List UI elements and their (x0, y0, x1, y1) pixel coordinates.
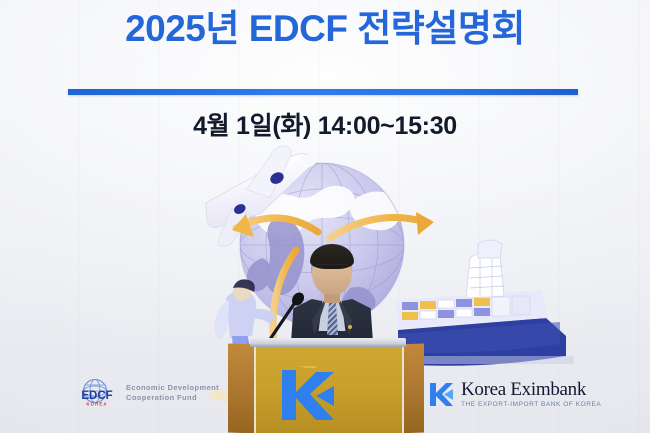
edcf-fullname-line1: Economic Development (126, 383, 219, 393)
eximbank-name: Korea Eximbank (461, 380, 601, 400)
title-divider-bar (68, 89, 578, 95)
edcf-globe-icon: EDCF KOREA (74, 378, 120, 408)
edcf-mark-text: EDCF (81, 390, 112, 402)
speaker-glasses (315, 264, 349, 274)
edcf-fullname: Economic Development Cooperation Fund (126, 383, 219, 403)
eximbank-k-mark-icon (428, 381, 454, 408)
edcf-logo: EDCF KOREA Economic Development Cooperat… (74, 378, 219, 408)
screenshot-root: 2025년 EDCF 전략설명회 4월 1일(화) 14:00~15:30 (0, 0, 650, 433)
eximbank-k-logo-icon (276, 366, 338, 424)
speaker-lapel-pin (348, 325, 352, 329)
podium (228, 344, 424, 433)
slide-title: 2025년 EDCF 전략설명회 (0, 6, 650, 52)
korea-eximbank-logo: Korea Eximbank THE EXPORT-IMPORT BANK OF… (428, 380, 601, 409)
edcf-fullname-line2: Cooperation Fund (126, 393, 219, 403)
eximbank-tagline: THE EXPORT-IMPORT BANK OF KOREA (461, 400, 601, 409)
slide-subtitle-datetime: 4월 1일(화) 14:00~15:30 (0, 110, 650, 142)
podium-lectern-top (250, 338, 406, 347)
eximbank-wordmark: Korea Eximbank THE EXPORT-IMPORT BANK OF… (461, 380, 601, 409)
edcf-korea-text: KOREA (86, 402, 107, 407)
